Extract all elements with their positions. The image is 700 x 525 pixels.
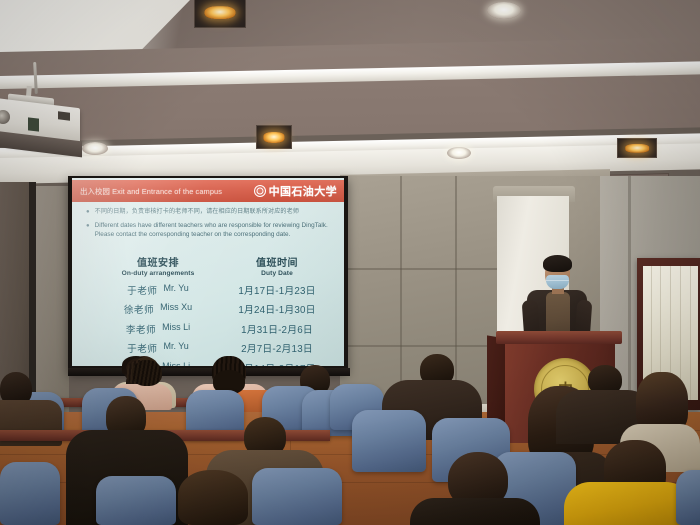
teacher-name-cn: 李老师 xyxy=(126,322,156,336)
teacher-name-cn: 于老师 xyxy=(127,341,157,355)
header-cn: 值班安排 xyxy=(94,254,222,269)
bullet-text-en: Different dates have different teachers … xyxy=(95,222,334,239)
downlight-icon xyxy=(82,142,108,155)
spotlight-icon xyxy=(256,125,292,149)
teacher-name-en: Miss Li xyxy=(162,322,190,336)
wall-right-seam xyxy=(628,176,631,412)
podium-top xyxy=(496,331,622,344)
downlight-icon xyxy=(447,147,471,159)
duty-table-header: 值班安排 On-duty arrangements 值班时间 Duty Date xyxy=(94,254,332,277)
bullet-item: ● 不同的日期，负责审核打卡的老师不同，请在相应的日期联系所对应的老师 xyxy=(86,208,334,217)
wall-seam xyxy=(455,176,457,412)
duty-date: 2月7日-2月13日 xyxy=(222,341,332,355)
lecture-chair xyxy=(252,468,342,525)
ceiling-brown-band xyxy=(0,37,700,142)
projection-screen: 出入校园 Exit and Entrance of the campus 中国石… xyxy=(72,178,344,366)
teacher-name-en: Mr. Yu xyxy=(163,283,188,297)
university-emblem-icon xyxy=(254,185,266,197)
duty-teacher: 于老师 Mr. Yu xyxy=(94,341,222,355)
header-en: On-duty arrangements xyxy=(94,270,222,277)
table-row: 于老师 Mr. Yu 2月7日-2月13日 xyxy=(94,341,332,355)
lecture-hall-photo: 出入校园 Exit and Entrance of the campus 中国石… xyxy=(0,0,700,525)
duty-table-header-date: 值班时间 Duty Date xyxy=(222,254,332,277)
face-mask-icon xyxy=(546,275,569,289)
duty-teacher: 李老师 Miss Li xyxy=(94,322,222,336)
projector-vent xyxy=(58,111,70,120)
teacher-name-en: Miss Xu xyxy=(160,302,192,316)
wall-left-panel xyxy=(33,186,69,412)
podium-side xyxy=(487,335,507,424)
spotlight-icon xyxy=(617,138,657,158)
duty-date: 1月24日-1月30日 xyxy=(222,302,332,316)
bullet-item: ● Different dates have different teacher… xyxy=(86,222,334,239)
wall-left-edge xyxy=(29,182,36,414)
lecture-chair xyxy=(676,470,700,525)
duty-teacher: 于老师 Mr. Yu xyxy=(94,283,222,297)
slide-bullets: ● 不同的日期，负责审核打卡的老师不同，请在相应的日期联系所对应的老师 ● Di… xyxy=(86,208,334,244)
teacher-name-cn: 于老师 xyxy=(127,283,157,297)
wall-seam xyxy=(340,345,500,347)
lecture-chair xyxy=(352,410,426,472)
duty-teacher: 徐老师 Miss Xu xyxy=(94,302,222,316)
wall-seam xyxy=(400,176,402,412)
duty-date: 1月17日-1月23日 xyxy=(222,283,332,297)
bullet-dot-icon: ● xyxy=(86,222,90,239)
speaker-hair xyxy=(543,255,572,272)
teacher-name-en: Mr. Yu xyxy=(163,341,188,355)
lecture-chair xyxy=(96,476,176,525)
spotlight-icon xyxy=(194,0,246,28)
duty-table: 值班安排 On-duty arrangements 值班时间 Duty Date… xyxy=(94,254,332,366)
table-row: 李老师 Miss Li 1月31日-2月6日 xyxy=(94,322,332,336)
wall-seam xyxy=(340,268,500,270)
downlight-icon xyxy=(487,2,521,19)
header-cn: 值班时间 xyxy=(222,254,332,269)
bullet-dot-icon: ● xyxy=(86,208,90,217)
duty-date: 1月31日-2月6日 xyxy=(222,322,332,336)
slide-banner: 出入校园 Exit and Entrance of the campus 中国石… xyxy=(72,180,344,202)
slide-banner-title: 出入校园 Exit and Entrance of the campus xyxy=(80,186,222,197)
table-row: 徐老师 Miss Xu 1月24日-1月30日 xyxy=(94,302,332,316)
header-en: Duty Date xyxy=(222,270,332,277)
teacher-name-en: Miss Li xyxy=(162,361,190,366)
university-logo-text: 中国石油大学 xyxy=(269,183,337,199)
projector-label xyxy=(28,117,39,131)
duty-table-header-arrangements: 值班安排 On-duty arrangements xyxy=(94,254,222,277)
lecture-chair xyxy=(0,462,60,525)
university-logo: 中国石油大学 xyxy=(254,183,337,199)
teacher-name-cn: 徐老师 xyxy=(124,302,154,316)
bullet-text-cn: 不同的日期，负责审核打卡的老师不同，请在相应的日期联系所对应的老师 xyxy=(95,208,299,217)
table-row: 于老师 Mr. Yu 1月17日-1月23日 xyxy=(94,283,332,297)
